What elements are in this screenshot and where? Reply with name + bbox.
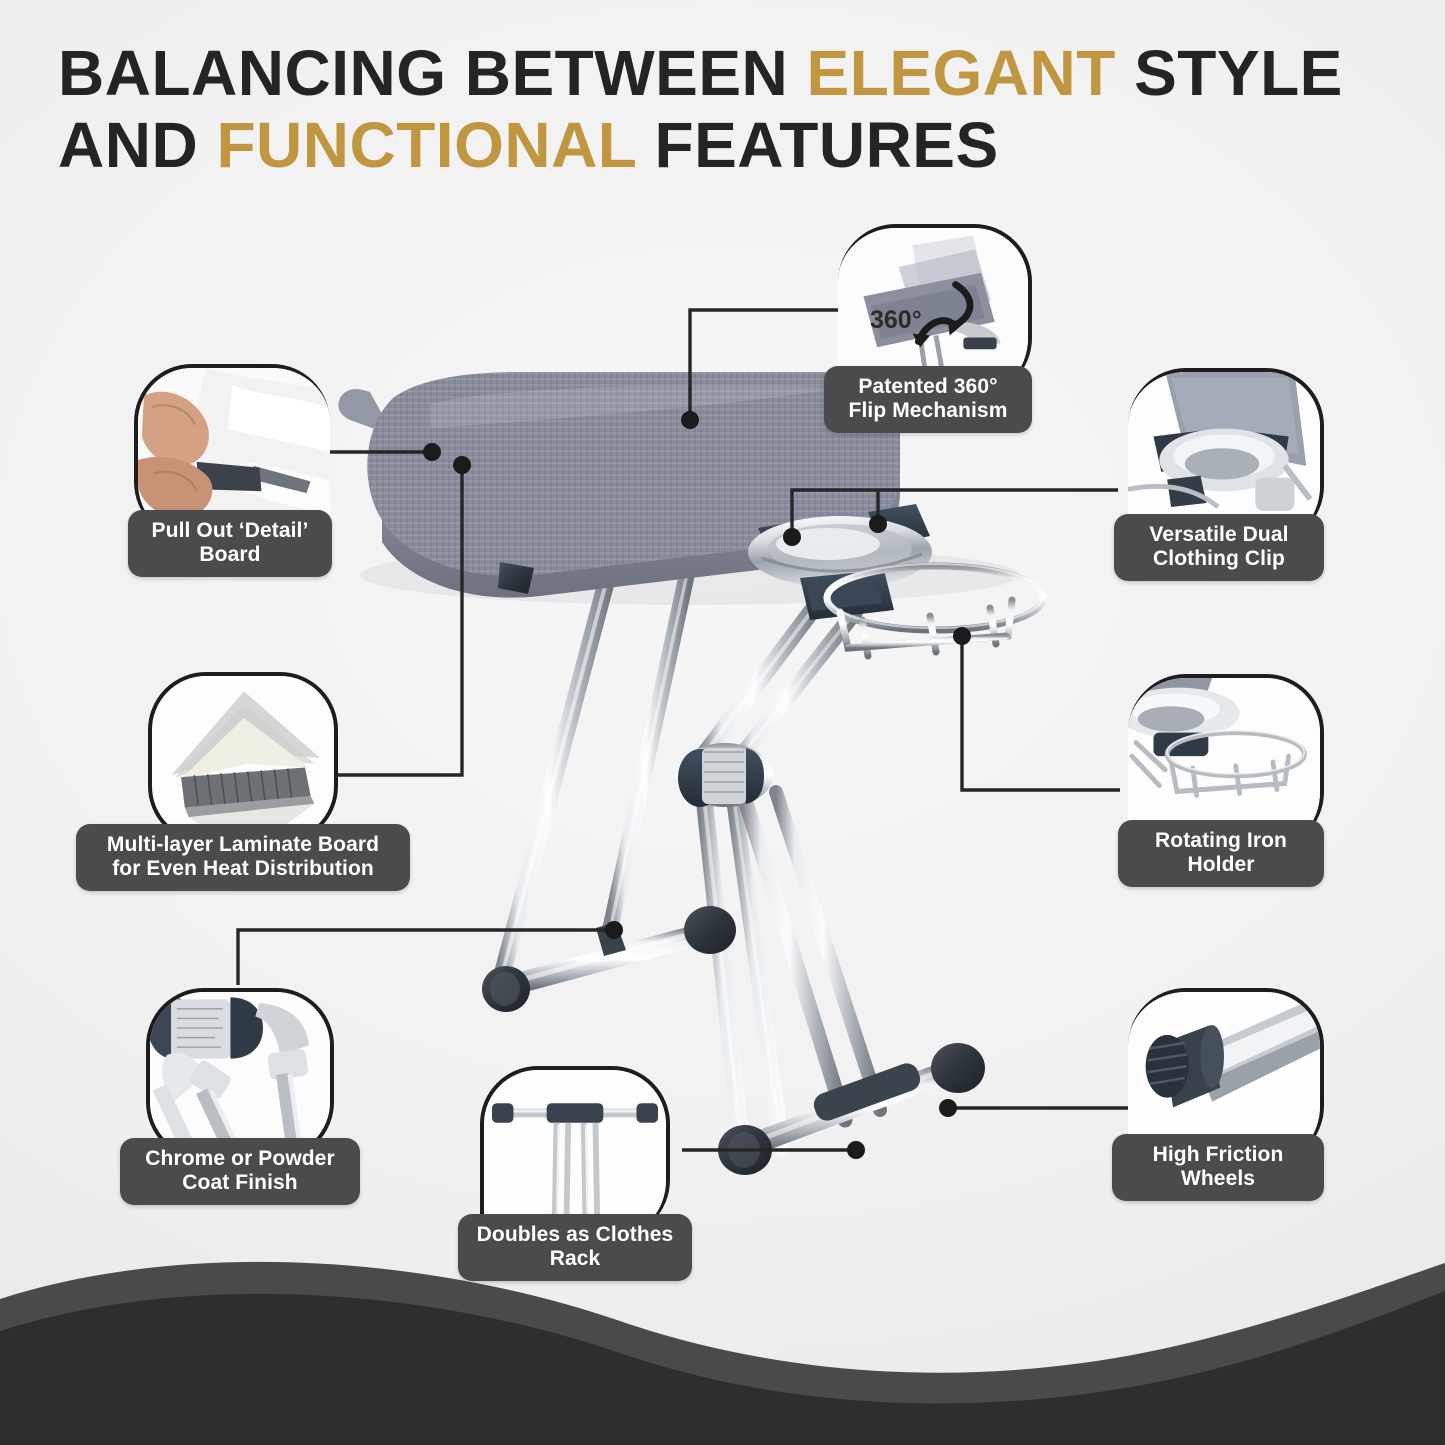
wire-dot [953,627,971,645]
pull-out-detail-board-label: Pull Out ‘Detail’ Board [128,510,332,577]
callout-multi-layer-laminate-board[interactable]: Multi-layer Laminate Board for Even Heat… [148,672,338,844]
callout-versatile-dual-clothing-clip[interactable]: Versatile Dual Clothing Clip [1128,368,1324,544]
callout-pull-out-detail-board[interactable]: Pull Out ‘Detail’ Board [134,364,330,540]
wire-dot [453,456,471,474]
chrome-leg-joint-photo [146,988,334,1160]
callout-high-friction-wheels[interactable]: High Friction Wheels [1128,988,1324,1164]
folded-frame-rack-photo [480,1066,670,1238]
callout-rotating-iron-holder[interactable]: Rotating Iron Holder [1128,674,1324,850]
laminate-layers-diagram [148,672,338,844]
infographic-canvas: BALANCING BETWEEN ELEGANT STYLE AND FUNC… [0,0,1445,1445]
flip-360-annotation: 360° [870,306,922,335]
wire-dot [783,528,801,546]
wire-dot [869,515,887,533]
multi-layer-laminate-board-label: Multi-layer Laminate Board for Even Heat… [76,824,410,891]
wire-dot [847,1141,865,1159]
bottom-wave-decoration [0,1235,1445,1445]
rotating-iron-holder-label: Rotating Iron Holder [1118,820,1324,887]
chrome-or-powder-coat-finish-label: Chrome or Powder Coat Finish [120,1138,360,1205]
versatile-dual-clothing-clip-label: Versatile Dual Clothing Clip [1114,514,1324,581]
high-friction-wheels-label: High Friction Wheels [1112,1134,1324,1201]
wire-dot [605,921,623,939]
wire-dot [681,411,699,429]
callout-chrome-or-powder-coat-finish[interactable]: Chrome or Powder Coat Finish [146,988,334,1160]
callout-patented-360-flip-mechanism[interactable]: 360° Patented 360° Flip Mechanism [838,224,1032,396]
wire-dot [423,443,441,461]
patented-360-flip-mechanism-label: Patented 360° Flip Mechanism [824,366,1032,433]
callout-doubles-as-clothes-rack[interactable]: Doubles as Clothes Rack [480,1066,670,1238]
wire-dot [939,1099,957,1117]
